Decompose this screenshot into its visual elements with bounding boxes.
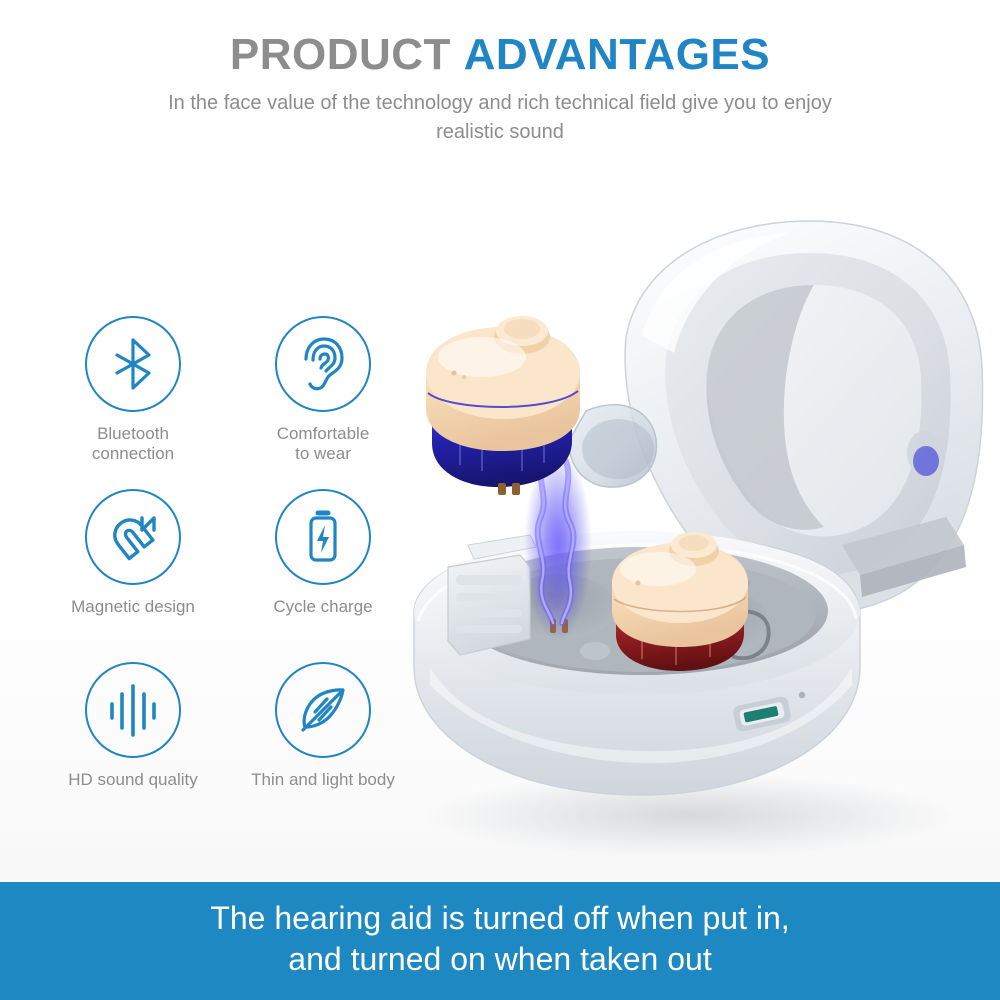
- feature-row: Magnetic design Cycle charge: [38, 489, 418, 662]
- feature-magnetic-design[interactable]: Magnetic design: [38, 489, 228, 662]
- feature-label: Magnetic design: [71, 597, 195, 617]
- feature-label: Bluetooth connection: [92, 424, 174, 464]
- feature-icon-circle: [275, 662, 371, 758]
- title-part-product: PRODUCT: [230, 30, 451, 79]
- bluetooth-icon: [108, 336, 158, 392]
- feature-row: HD sound quality: [38, 662, 418, 835]
- product-advantages-page: PRODUCT ADVANTAGES In the face value of …: [0, 0, 1000, 1000]
- feature-icon-circle: [275, 489, 371, 585]
- title-part-advantages: ADVANTAGES: [464, 30, 771, 79]
- feature-label: Thin and light body: [251, 770, 395, 790]
- feature-icon-circle: [85, 662, 181, 758]
- page-title: PRODUCT ADVANTAGES: [0, 30, 1000, 79]
- ear-icon: [296, 335, 350, 393]
- feature-icon-circle: [275, 316, 371, 412]
- soundwave-icon: [105, 681, 161, 739]
- feature-bluetooth-connection[interactable]: Bluetooth connection: [38, 316, 228, 489]
- bottom-banner: The hearing aid is turned off when put i…: [0, 882, 1000, 1000]
- page-header: PRODUCT ADVANTAGES In the face value of …: [0, 0, 1000, 147]
- feature-icon-circle: [85, 316, 181, 412]
- charging-case-illustration: [390, 215, 1000, 855]
- feature-hd-sound-quality[interactable]: HD sound quality: [38, 662, 228, 835]
- page-subtitle: In the face value of the technology and …: [150, 89, 850, 147]
- feature-label: Cycle charge: [273, 597, 372, 617]
- feature-icon-circle: [85, 489, 181, 585]
- feature-row: Bluetooth connection Comfortab: [38, 316, 418, 489]
- feature-list: Bluetooth connection Comfortab: [38, 316, 418, 835]
- banner-text: The hearing aid is turned off when put i…: [210, 898, 789, 984]
- led-indicator: [799, 692, 805, 698]
- feature-label: HD sound quality: [68, 770, 197, 790]
- battery-charge-icon: [302, 507, 344, 567]
- feather-icon: [295, 682, 351, 738]
- feature-label: Comfortable to wear: [277, 424, 370, 464]
- product-image: [390, 215, 1000, 855]
- floating-hearing-aid: [426, 316, 656, 495]
- magnet-icon: [104, 508, 162, 566]
